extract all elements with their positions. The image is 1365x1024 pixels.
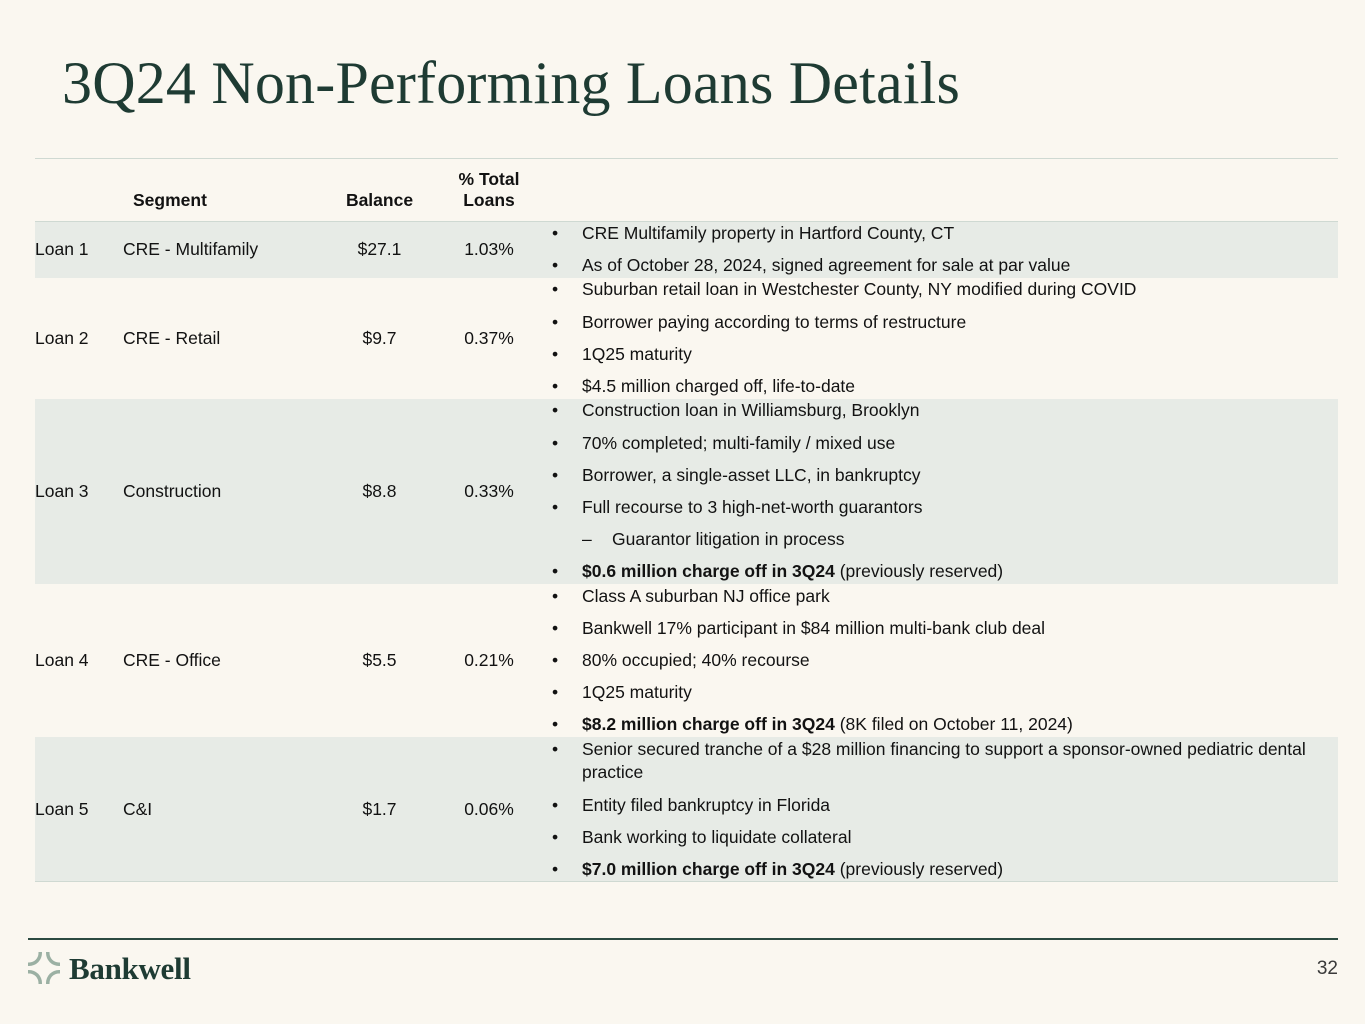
bullet-dot-icon: •: [552, 681, 558, 705]
detail-bullet: •Construction loan in Williamsburg, Broo…: [540, 399, 1338, 423]
detail-subbullet: –Guarantor litigation in process: [582, 528, 1338, 552]
detail-bullet-text: (previously reserved): [835, 561, 1003, 581]
detail-bullet-list: •Construction loan in Williamsburg, Broo…: [540, 399, 1338, 583]
table-row: Loan 5C&I$1.70.06%•Senior secured tranch…: [35, 737, 1338, 882]
details-cell: •CRE Multifamily property in Hartford Co…: [540, 221, 1338, 278]
detail-bullet: •70% completed; multi-family / mixed use: [540, 432, 1338, 456]
balance-value: $1.7: [321, 737, 438, 882]
loan-label: Loan 1: [35, 221, 123, 278]
brand-logo: Bankwell: [28, 952, 191, 984]
loan-label: Loan 5: [35, 737, 123, 882]
detail-bullet: •Borrower, a single-asset LLC, in bankru…: [540, 464, 1338, 488]
bullet-dot-icon: •: [552, 738, 558, 762]
pct-header-line-1: % Total: [459, 169, 520, 189]
detail-bullet-text: CRE Multifamily property in Hartford Cou…: [582, 223, 954, 243]
pct-total-loans-value: 1.03%: [438, 221, 540, 278]
page-number: 32: [1317, 958, 1338, 980]
bullet-dot-icon: •: [552, 222, 558, 246]
balance-value: $8.8: [321, 399, 438, 584]
bullet-dot-icon: •: [552, 649, 558, 673]
detail-bullet-emphasis: $7.0 million charge off in 3Q24: [582, 859, 835, 879]
bullet-dot-icon: •: [552, 278, 558, 302]
subbullet-dash-icon: –: [582, 528, 592, 552]
slide: 3Q24 Non-Performing Loans Details Segmen…: [0, 0, 1365, 1024]
segment-value: CRE - Retail: [123, 278, 321, 399]
detail-bullet: •Borrower paying according to terms of r…: [540, 311, 1338, 335]
detail-bullet-text: 70% completed; multi-family / mixed use: [582, 433, 895, 453]
detail-bullet-text: Entity filed bankruptcy in Florida: [582, 795, 830, 815]
detail-bullet: •1Q25 maturity: [540, 681, 1338, 705]
detail-bullet-text: Borrower, a single-asset LLC, in bankrup…: [582, 465, 921, 485]
detail-bullet-list: •Class A suburban NJ office park•Bankwel…: [540, 585, 1338, 737]
detail-bullet-text: Suburban retail loan in Westchester Coun…: [582, 279, 1136, 299]
balance-value: $9.7: [321, 278, 438, 399]
footer: Bankwell 32: [28, 952, 1338, 1002]
detail-bullet-text: As of October 28, 2024, signed agreement…: [582, 255, 1070, 275]
non-performing-loans-table: Segment Balance % Total Loans Loan 1CRE …: [35, 158, 1338, 882]
column-header-details: [540, 159, 1338, 222]
detail-subbullet-text: Guarantor litigation in process: [612, 529, 844, 549]
column-header-balance: Balance: [321, 159, 438, 222]
segment-value: C&I: [123, 737, 321, 882]
bullet-dot-icon: •: [552, 560, 558, 584]
pct-total-loans-value: 0.06%: [438, 737, 540, 882]
bullet-dot-icon: •: [552, 585, 558, 609]
table-row: Loan 4CRE - Office$5.50.21%•Class A subu…: [35, 584, 1338, 737]
detail-bullet-emphasis: $8.2 million charge off in 3Q24: [582, 714, 835, 734]
bullet-dot-icon: •: [552, 399, 558, 423]
bullet-dot-icon: •: [552, 858, 558, 882]
detail-bullet: •CRE Multifamily property in Hartford Co…: [540, 222, 1338, 246]
table-row: Loan 2CRE - Retail$9.70.37%•Suburban ret…: [35, 278, 1338, 399]
detail-bullet-text: Construction loan in Williamsburg, Brook…: [582, 400, 920, 420]
segment-value: CRE - Office: [123, 584, 321, 737]
detail-bullet: •$7.0 million charge off in 3Q24 (previo…: [540, 858, 1338, 882]
bullet-dot-icon: •: [552, 311, 558, 335]
detail-bullet-list: •Senior secured tranche of a $28 million…: [540, 738, 1338, 882]
details-cell: •Class A suburban NJ office park•Bankwel…: [540, 584, 1338, 737]
detail-bullet-text: Senior secured tranche of a $28 million …: [582, 739, 1306, 783]
detail-bullet-text: 80% occupied; 40% recourse: [582, 650, 810, 670]
segment-value: CRE - Multifamily: [123, 221, 321, 278]
bullet-dot-icon: •: [552, 826, 558, 850]
detail-bullet: •Bankwell 17% participant in $84 million…: [540, 617, 1338, 641]
details-cell: •Suburban retail loan in Westchester Cou…: [540, 278, 1338, 399]
loan-label: Loan 2: [35, 278, 123, 399]
balance-value: $27.1: [321, 221, 438, 278]
detail-bullet: •Suburban retail loan in Westchester Cou…: [540, 278, 1338, 302]
details-cell: •Construction loan in Williamsburg, Broo…: [540, 399, 1338, 584]
detail-bullet-text: (previously reserved): [835, 859, 1003, 879]
pct-total-loans-value: 0.33%: [438, 399, 540, 584]
column-header-pct-total-loans: % Total Loans: [438, 159, 540, 222]
detail-bullet-list: •Suburban retail loan in Westchester Cou…: [540, 278, 1338, 398]
pct-total-loans-value: 0.37%: [438, 278, 540, 399]
detail-bullet-text: Class A suburban NJ office park: [582, 586, 830, 606]
detail-bullet-text: Full recourse to 3 high-net-worth guaran…: [582, 497, 922, 517]
loan-label: Loan 3: [35, 399, 123, 584]
loan-label: Loan 4: [35, 584, 123, 737]
detail-bullet: •Bank working to liquidate collateral: [540, 826, 1338, 850]
bullet-dot-icon: •: [552, 713, 558, 737]
table-body: Loan 1CRE - Multifamily$27.11.03%•CRE Mu…: [35, 221, 1338, 882]
detail-bullet: •$8.2 million charge off in 3Q24 (8K fil…: [540, 713, 1338, 737]
detail-bullet: •$0.6 million charge off in 3Q24 (previo…: [540, 560, 1338, 584]
details-cell: •Senior secured tranche of a $28 million…: [540, 737, 1338, 882]
bullet-dot-icon: •: [552, 496, 558, 520]
detail-bullet-text: (8K filed on October 11, 2024): [835, 714, 1073, 734]
brand-name: Bankwell: [69, 953, 191, 984]
bullet-dot-icon: •: [552, 343, 558, 367]
bullet-dot-icon: •: [552, 794, 558, 818]
detail-bullet-text: 1Q25 maturity: [582, 682, 692, 702]
detail-bullet-text: 1Q25 maturity: [582, 344, 692, 364]
segment-value: Construction: [123, 399, 321, 584]
bullet-dot-icon: •: [552, 375, 558, 399]
detail-bullet: •1Q25 maturity: [540, 343, 1338, 367]
detail-bullet: •80% occupied; 40% recourse: [540, 649, 1338, 673]
detail-bullet: •Class A suburban NJ office park: [540, 585, 1338, 609]
bankwell-star-icon: [28, 952, 60, 984]
table-row: Loan 1CRE - Multifamily$27.11.03%•CRE Mu…: [35, 221, 1338, 278]
table-header-row: Segment Balance % Total Loans: [35, 159, 1338, 222]
pct-total-loans-value: 0.21%: [438, 584, 540, 737]
detail-bullet: •$4.5 million charged off, life-to-date: [540, 375, 1338, 399]
detail-bullet-text: Bankwell 17% participant in $84 million …: [582, 618, 1045, 638]
table-row: Loan 3Construction$8.80.33%•Construction…: [35, 399, 1338, 584]
detail-bullet: •Senior secured tranche of a $28 million…: [540, 738, 1338, 785]
bullet-dot-icon: •: [552, 254, 558, 278]
detail-bullet: •Entity filed bankruptcy in Florida: [540, 794, 1338, 818]
detail-bullet-text: Bank working to liquidate collateral: [582, 827, 851, 847]
detail-bullet-emphasis: $0.6 million charge off in 3Q24: [582, 561, 835, 581]
detail-bullet-list: •CRE Multifamily property in Hartford Co…: [540, 222, 1338, 278]
bullet-dot-icon: •: [552, 617, 558, 641]
detail-bullet-text: $4.5 million charged off, life-to-date: [582, 376, 855, 396]
page-title: 3Q24 Non-Performing Loans Details: [62, 52, 960, 115]
footer-divider: [28, 938, 1338, 940]
column-header-segment: Segment: [123, 159, 321, 222]
detail-subbullet-list: –Guarantor litigation in process: [582, 528, 1338, 552]
detail-bullet-text: Borrower paying according to terms of re…: [582, 312, 966, 332]
column-header-loan: [35, 159, 123, 222]
detail-bullet: •Full recourse to 3 high-net-worth guara…: [540, 496, 1338, 552]
bullet-dot-icon: •: [552, 464, 558, 488]
pct-header-line-2: Loans: [463, 190, 515, 210]
bullet-dot-icon: •: [552, 432, 558, 456]
table-header: Segment Balance % Total Loans: [35, 159, 1338, 222]
detail-bullet: •As of October 28, 2024, signed agreemen…: [540, 254, 1338, 278]
balance-value: $5.5: [321, 584, 438, 737]
